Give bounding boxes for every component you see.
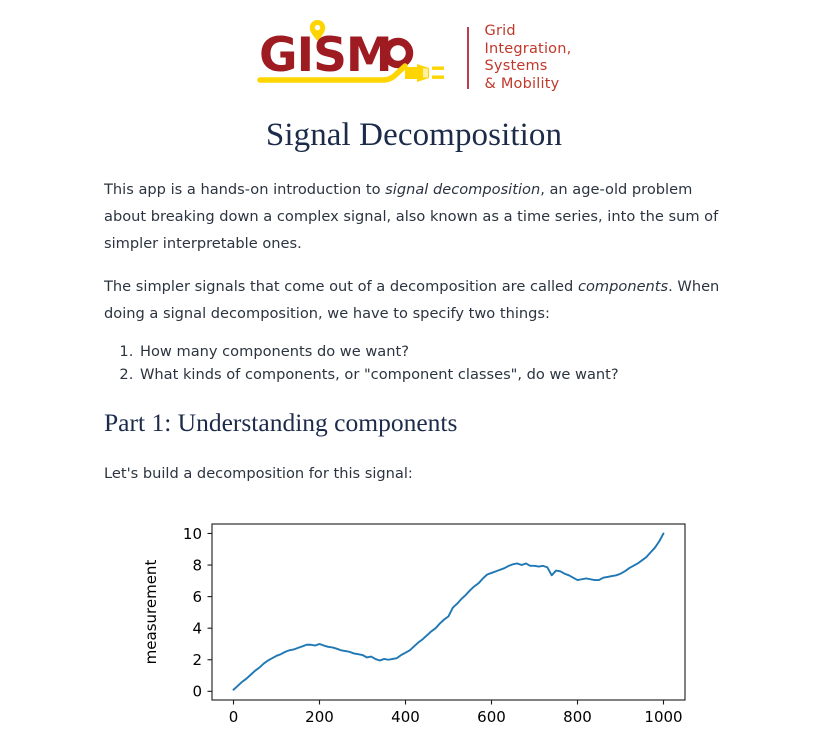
svg-text:GISM: GISM bbox=[259, 28, 392, 83]
list-item: How many components do we want? bbox=[138, 340, 724, 363]
intro-p2-emphasis: components bbox=[578, 278, 668, 295]
logo-band: GISM Grid Integration, Systems & Mobilit… bbox=[0, 0, 828, 98]
section-heading-part-1: Part 1: Understanding components bbox=[104, 408, 724, 438]
x-tick-label: 800 bbox=[563, 708, 592, 726]
gismo-logo: GISM Grid Integration, Systems & Mobilit… bbox=[257, 18, 572, 98]
intro-p1-text-a: This app is a hands-on introduction to bbox=[104, 181, 385, 198]
data-series-line bbox=[234, 533, 664, 689]
intro-p2-text-a: The simpler signals that come out of a d… bbox=[104, 278, 578, 295]
y-tick-label: 6 bbox=[192, 588, 202, 606]
signal-line-chart: 020040060080010000246810measurement bbox=[134, 514, 694, 746]
x-tick-label: 1000 bbox=[644, 708, 682, 726]
intro-p1-emphasis: signal decomposition bbox=[385, 181, 540, 198]
y-tick-label: 10 bbox=[183, 525, 202, 543]
x-tick-label: 600 bbox=[477, 708, 506, 726]
y-tick-label: 8 bbox=[192, 556, 202, 574]
list-item: What kinds of components, or "component … bbox=[138, 363, 724, 386]
y-tick-label: 2 bbox=[192, 651, 202, 669]
x-tick-label: 400 bbox=[391, 708, 420, 726]
specification-list: How many components do we want? What kin… bbox=[104, 340, 724, 386]
logo-tagline: Grid Integration, Systems & Mobility bbox=[485, 23, 572, 93]
x-tick-label: 200 bbox=[305, 708, 334, 726]
logo-tagline-line-3: Systems bbox=[485, 58, 572, 76]
logo-tagline-line-1: Grid bbox=[485, 23, 572, 41]
main-content: This app is a hands-on introduction to s… bbox=[0, 176, 828, 486]
chart-lead-in-text: Let's build a decomposition for this sig… bbox=[104, 462, 724, 486]
page-title: Signal Decomposition bbox=[0, 116, 828, 154]
y-tick-label: 4 bbox=[192, 620, 202, 638]
logo-tagline-line-4: & Mobility bbox=[485, 76, 572, 94]
intro-paragraph-1: This app is a hands-on introduction to s… bbox=[104, 176, 724, 257]
page-root: GISM Grid Integration, Systems & Mobilit… bbox=[0, 0, 828, 688]
y-tick-label: 0 bbox=[192, 683, 202, 701]
gismo-wordmark-icon: GISM bbox=[257, 18, 453, 98]
signal-chart-container: 020040060080010000246810measurement bbox=[0, 514, 828, 746]
signal-chart-figure: 020040060080010000246810measurement bbox=[134, 514, 694, 746]
plot-area-border bbox=[212, 524, 685, 700]
intro-paragraph-2: The simpler signals that come out of a d… bbox=[104, 273, 724, 327]
logo-tagline-line-2: Integration, bbox=[485, 41, 572, 59]
x-tick-label: 0 bbox=[229, 708, 239, 726]
logo-divider bbox=[467, 27, 469, 89]
y-axis-title: measurement bbox=[142, 560, 160, 665]
